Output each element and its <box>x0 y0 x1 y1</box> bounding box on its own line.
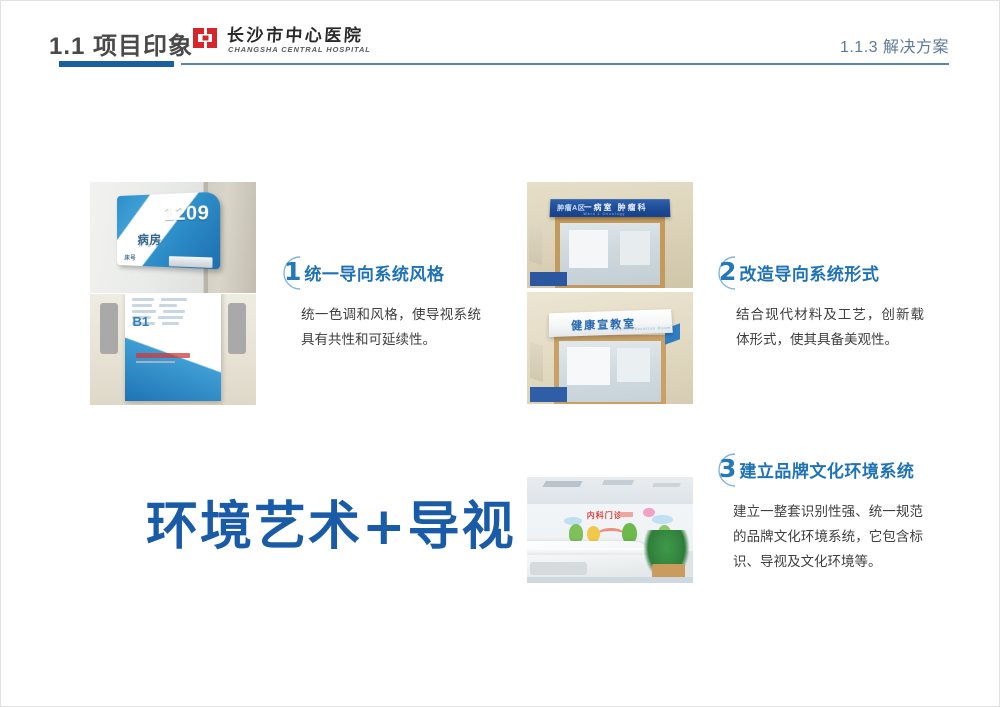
wall-panel-left <box>100 303 118 354</box>
wall-graphic-rainbow <box>597 528 625 542</box>
photo-ward-door: 肿瘤A区 一病室 肿瘤科 Ward 1 Oncology <box>527 182 693 288</box>
directory-logo-text <box>136 361 175 363</box>
wall-graphic-tree <box>587 526 600 542</box>
wall-graphic-cloud <box>652 515 674 523</box>
wall-graphic-tree <box>622 523 637 543</box>
photo-health-education-room: 健康宣教室 Health Education Room <box>527 292 693 404</box>
photo-clinic-lobby: 内科门诊 <box>527 477 693 583</box>
ward-sign-nameplate <box>170 256 213 268</box>
feature-item-1-body: 统一色调和风格，使导视系统具有共性和可延续性。 <box>301 302 481 352</box>
door-notice-2 <box>617 348 650 382</box>
feature-item-3: 3 建立品牌文化环境系统 建立一整套识别性强、统一规范的品牌文化环境系统，它包含… <box>711 456 939 574</box>
wall-graphic-balloon <box>643 508 655 518</box>
overhead-sign-blue: 肿瘤A区 一病室 肿瘤科 Ward 1 Oncology <box>550 199 670 217</box>
ceiling-light <box>652 483 680 487</box>
ward-sign-number: 1209 <box>164 203 209 226</box>
feature-item-3-body: 建立一整套识别性强、统一规范的品牌文化环境系统，它包含标识、导视及文化环境等。 <box>733 499 923 574</box>
ward-sign-panel: 1209 病房 W a r d 床号 <box>117 192 220 270</box>
overhead-sign-text-en: Health Education Room <box>613 326 671 332</box>
wall-panel-right <box>228 303 246 354</box>
ceiling-light <box>602 480 634 485</box>
directory-floor-label: B1 <box>133 314 150 329</box>
overhead-sign-zone: 肿瘤A区 <box>557 203 585 213</box>
feature-item-3-title: 建立品牌文化环境系统 <box>739 463 914 480</box>
header-accent-bar <box>59 61 174 67</box>
feature-item-1-title: 统一导向系统风格 <box>304 266 444 283</box>
photo-floor-directory: B1 <box>90 294 256 405</box>
ward-sign-sublabel: 床号 <box>125 253 137 262</box>
feature-item-1: 1 统一导向系统风格 统一色调和风格，使导视系统具有共性和可延续性。 <box>276 259 491 352</box>
corridor-side-wall <box>530 341 543 381</box>
door-notice <box>569 230 609 268</box>
corridor-side-wall <box>529 224 542 264</box>
wall-info-plate <box>530 387 567 402</box>
photo-ward-sign: 1209 病房 W a r d 床号 <box>90 182 256 293</box>
page-title: 1.1 项目印象 <box>49 26 193 61</box>
feature-item-2-title: 改造导向系统形式 <box>739 266 879 283</box>
feature-item-2: 2 改造导向系统形式 结合现代材料及工艺，创新载体形式，使其具备美观性。 <box>711 259 931 352</box>
feature-item-3-number: 3 <box>719 456 736 481</box>
reception-desk-top <box>527 548 658 555</box>
overhead-sign-text-en: Ward 1 Oncology <box>584 212 626 216</box>
directory-board: B1 <box>125 294 221 401</box>
ceiling-light <box>542 481 582 487</box>
slide-header: 1.1 项目印象 长沙市中心医院 CHANGSHA CENTRAL HOSPIT… <box>1 1 1000 79</box>
culture-wall-title: 内科门诊 <box>587 510 623 521</box>
feature-item-2-number: 2 <box>719 259 736 284</box>
feature-item-3-heading: 3 建立品牌文化环境系统 <box>711 456 939 488</box>
feature-item-1-number: 1 <box>284 259 301 284</box>
feature-item-2-body: 结合现代材料及工艺，创新载体形式，使其具备美观性。 <box>736 302 924 352</box>
wall-info-plate <box>530 272 567 286</box>
culture-wall-title-en <box>620 512 633 517</box>
reception-counter <box>530 562 586 575</box>
ward-sign-label-en: W a r d <box>139 243 168 249</box>
directory-row <box>132 304 216 307</box>
feature-item-2-heading: 2 改造导向系统形式 <box>711 259 931 291</box>
directory-logo <box>136 353 190 358</box>
floor <box>527 577 693 583</box>
overhead-sign-white: 健康宣教室 Health Education Room <box>548 309 672 336</box>
header-rule-line <box>181 63 949 65</box>
hospital-name-cn: 长沙市中心医院 <box>226 21 364 46</box>
door-notice-2 <box>620 231 650 265</box>
door-notice <box>567 347 610 385</box>
hospital-name-en: CHANGSHA CENTRAL HOSPITAL <box>228 45 371 54</box>
hospital-logo-mark <box>191 25 219 51</box>
hospital-logo: 长沙市中心医院 CHANGSHA CENTRAL HOSPITAL <box>191 23 351 59</box>
main-headline: 环境艺术+导视 <box>146 484 516 559</box>
wall-graphic-tree <box>569 524 584 543</box>
slide: 1.1 项目印象 长沙市中心医院 CHANGSHA CENTRAL HOSPIT… <box>0 0 1000 707</box>
section-title: 1.1.3 解决方案 <box>840 33 949 57</box>
feature-item-1-heading: 1 统一导向系统风格 <box>276 259 491 291</box>
directory-row <box>132 298 216 301</box>
